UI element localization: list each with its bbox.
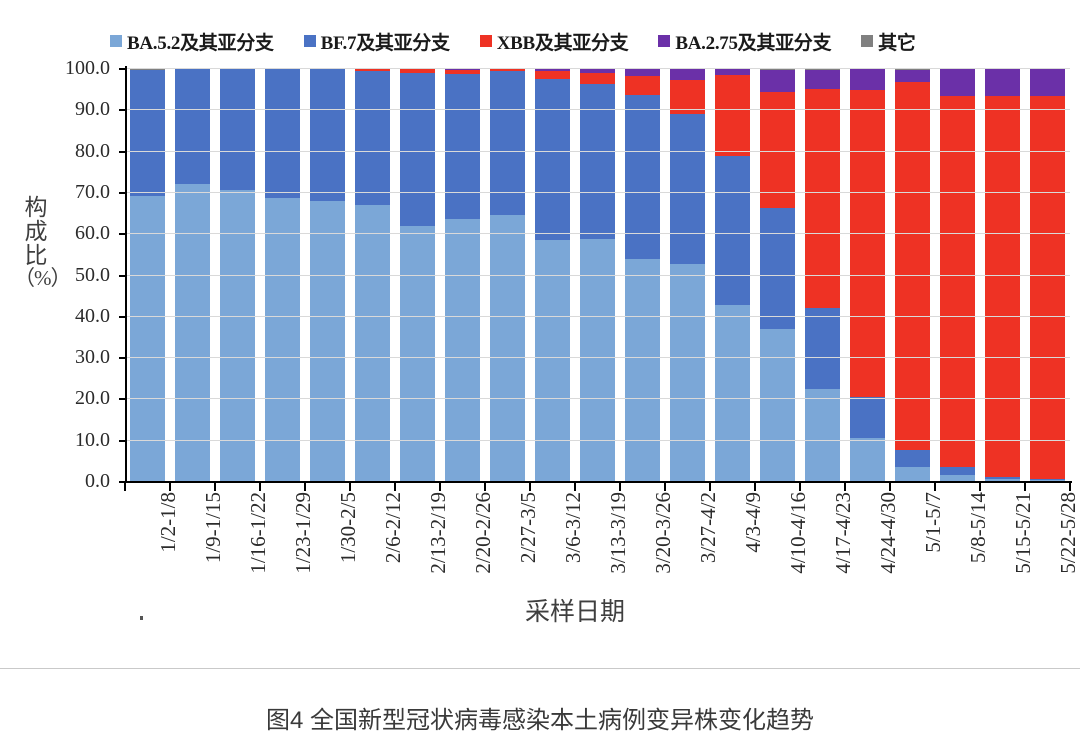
bar-segment[interactable] xyxy=(535,79,570,240)
bar-segment[interactable] xyxy=(535,240,570,481)
x-axis-label-cell: 4/17-4/23 xyxy=(800,492,845,587)
legend-item[interactable]: BA.2.75及其亚分支 xyxy=(658,28,831,55)
legend-swatch-icon xyxy=(304,35,316,47)
x-axis-label-cell: 2/20-2/26 xyxy=(440,492,485,587)
x-axis-tick-mark xyxy=(170,483,215,491)
x-axis-label-cell: 5/15-5/21 xyxy=(980,492,1025,587)
bar-segment[interactable] xyxy=(670,264,705,481)
y-axis-tick-label: 100.0 xyxy=(0,58,110,78)
x-axis-label-cell: 3/20-3/26 xyxy=(620,492,665,587)
x-axis-label-cell: 1/2-1/8 xyxy=(125,492,170,587)
bar-segment[interactable] xyxy=(130,196,165,481)
bar-segment[interactable] xyxy=(1030,69,1065,96)
x-axis-label-cell: 5/8-5/14 xyxy=(935,492,980,587)
bar-segment[interactable] xyxy=(220,68,255,189)
x-axis-title: 采样日期 xyxy=(0,592,1080,628)
bar-segment[interactable] xyxy=(850,438,885,481)
figure-container: BA.5.2及其亚分支BF.7及其亚分支XBB及其亚分支BA.2.75及其亚分支… xyxy=(0,0,1080,739)
x-axis-label-cell: 5/1-5/7 xyxy=(890,492,935,587)
y-axis-tick-label: 90.0 xyxy=(0,99,110,119)
gridline xyxy=(125,275,1070,276)
gridline xyxy=(125,398,1070,399)
bar-segment[interactable] xyxy=(265,198,300,481)
x-axis-label-cell: 1/23-1/29 xyxy=(260,492,305,587)
bar-segment[interactable] xyxy=(895,450,930,467)
figure-caption: 图4 全国新型冠状病毒感染本土病例变异株变化趋势 xyxy=(0,700,1080,735)
x-axis-tick-mark xyxy=(485,483,530,491)
legend-item-label: BA.5.2及其亚分支 xyxy=(127,28,274,55)
y-axis-tick-label: 10.0 xyxy=(0,430,110,450)
y-axis-tick-label: 80.0 xyxy=(0,141,110,161)
bar-segment[interactable] xyxy=(760,329,795,481)
y-axis-tick-label: 60.0 xyxy=(0,223,110,243)
y-axis-tick-label: 70.0 xyxy=(0,182,110,202)
bar-segment[interactable] xyxy=(1030,96,1065,479)
x-axis-tick-labels: 1/2-1/81/9-1/151/16-1/221/23-1/291/30-2/… xyxy=(125,492,1070,587)
legend-swatch-icon xyxy=(658,35,670,47)
x-axis-tick-mark xyxy=(530,483,575,491)
bar-segment[interactable] xyxy=(715,75,750,157)
legend-item[interactable]: BA.5.2及其亚分支 xyxy=(110,28,274,55)
legend-swatch-icon xyxy=(861,35,873,47)
x-axis-tick-mark xyxy=(890,483,935,491)
chart-legend: BA.5.2及其亚分支BF.7及其亚分支XBB及其亚分支BA.2.75及其亚分支… xyxy=(110,28,1070,54)
x-axis-label-cell: 3/13-3/19 xyxy=(575,492,620,587)
gridline xyxy=(125,68,1070,69)
bar-segment[interactable] xyxy=(175,184,210,481)
bar-segment[interactable] xyxy=(985,96,1020,478)
x-axis-tick-mark xyxy=(1025,483,1070,491)
bar-segment[interactable] xyxy=(265,69,300,198)
legend-item-label: BF.7及其亚分支 xyxy=(321,28,450,55)
legend-swatch-icon xyxy=(480,35,492,47)
horizontal-divider xyxy=(0,668,1080,669)
x-axis-label-cell: 1/16-1/22 xyxy=(215,492,260,587)
x-axis-tick-mark xyxy=(125,483,170,491)
bar-segment[interactable] xyxy=(535,71,570,79)
legend-item[interactable]: BF.7及其亚分支 xyxy=(304,28,450,55)
bar-segment[interactable] xyxy=(895,70,930,83)
x-axis-tick-mark xyxy=(845,483,890,491)
bar-segment[interactable] xyxy=(940,467,975,474)
x-axis-tick-mark xyxy=(260,483,305,491)
gridline xyxy=(125,316,1070,317)
bar-segment[interactable] xyxy=(175,68,210,184)
gridline xyxy=(125,357,1070,358)
bar-segment[interactable] xyxy=(895,82,930,449)
bar-segment[interactable] xyxy=(490,71,525,215)
x-axis-tick-mark xyxy=(215,483,260,491)
y-axis-tick-label: 20.0 xyxy=(0,388,110,408)
y-axis-tick-label: 50.0 xyxy=(0,265,110,285)
bar-segment[interactable] xyxy=(445,219,480,481)
stray-mark xyxy=(140,616,143,620)
bar-segment[interactable] xyxy=(850,90,885,397)
bar-segment[interactable] xyxy=(805,308,840,388)
x-axis-label-cell: 4/10-4/16 xyxy=(755,492,800,587)
legend-item[interactable]: 其它 xyxy=(861,28,915,55)
x-axis-ticks xyxy=(125,483,1070,491)
bar-segment[interactable] xyxy=(760,70,795,92)
x-axis-tick-mark xyxy=(710,483,755,491)
bar-segment[interactable] xyxy=(670,69,705,80)
x-axis-label-cell: 5/22-5/28 xyxy=(1025,492,1070,587)
bar-segment[interactable] xyxy=(580,73,615,84)
gridline xyxy=(125,233,1070,234)
bar-segment[interactable] xyxy=(625,76,660,95)
bar-segment[interactable] xyxy=(985,69,1020,96)
bar-segment[interactable] xyxy=(940,96,975,467)
bar-segment[interactable] xyxy=(400,226,435,481)
bar-segment[interactable] xyxy=(355,71,390,205)
bar-segment[interactable] xyxy=(760,208,795,329)
x-axis-tick-mark xyxy=(575,483,620,491)
x-axis-label-cell: 4/3-4/9 xyxy=(710,492,755,587)
x-axis-label-cell: 1/9-1/15 xyxy=(170,492,215,587)
x-axis-label-cell: 2/13-2/19 xyxy=(395,492,440,587)
x-axis-tick-label: 5/22-5/28 xyxy=(1056,492,1080,574)
bar-segment[interactable] xyxy=(625,259,660,481)
gridline xyxy=(125,151,1070,152)
bar-segment[interactable] xyxy=(130,70,165,196)
bar-segment[interactable] xyxy=(400,73,435,226)
x-axis-tick-mark xyxy=(935,483,980,491)
bar-segment[interactable] xyxy=(850,69,885,90)
bar-segment[interactable] xyxy=(310,69,345,200)
x-axis-label-cell: 1/30-2/5 xyxy=(305,492,350,587)
x-axis-tick-mark xyxy=(440,483,485,491)
x-axis-label-cell: 2/6-2/12 xyxy=(350,492,395,587)
bar-segment[interactable] xyxy=(445,74,480,219)
bar-segment[interactable] xyxy=(805,70,840,89)
x-axis-tick-mark xyxy=(350,483,395,491)
x-axis-tick-mark xyxy=(665,483,710,491)
bar-segment[interactable] xyxy=(895,467,930,481)
x-axis-label-cell: 3/27-4/2 xyxy=(665,492,710,587)
plot-area xyxy=(125,68,1070,481)
bar-segment[interactable] xyxy=(805,389,840,482)
x-axis-label-cell: 3/6-3/12 xyxy=(530,492,575,587)
x-axis-tick-mark xyxy=(395,483,440,491)
bar-segment[interactable] xyxy=(670,114,705,264)
legend-item-label: 其它 xyxy=(878,28,915,55)
x-axis-label-cell: 2/27-3/5 xyxy=(485,492,530,587)
bar-segment[interactable] xyxy=(580,84,615,239)
x-axis-tick-mark xyxy=(620,483,665,491)
bar-segment[interactable] xyxy=(715,305,750,481)
y-axis-tick-labels: 0.010.020.030.040.050.060.070.080.090.01… xyxy=(0,68,118,481)
y-axis-tick-label: 0.0 xyxy=(0,471,110,491)
x-axis-tick-mark xyxy=(980,483,1025,491)
bar-segment[interactable] xyxy=(940,69,975,96)
bar-segment[interactable] xyxy=(625,95,660,259)
bar-segment[interactable] xyxy=(625,69,660,76)
legend-item-label: XBB及其亚分支 xyxy=(497,28,629,55)
x-axis-tick-mark xyxy=(755,483,800,491)
bar-segment[interactable] xyxy=(490,215,525,481)
bar-segment[interactable] xyxy=(850,397,885,438)
legend-swatch-icon xyxy=(110,35,122,47)
gridline xyxy=(125,109,1070,110)
legend-item-label: BA.2.75及其亚分支 xyxy=(675,28,831,55)
x-axis-label-cell: 4/24-4/30 xyxy=(845,492,890,587)
x-axis-tick-mark xyxy=(800,483,845,491)
bar-segment[interactable] xyxy=(715,156,750,305)
y-axis-line xyxy=(125,66,127,483)
y-axis-tick-label: 40.0 xyxy=(0,306,110,326)
gridline xyxy=(125,440,1070,441)
gridline xyxy=(125,192,1070,193)
x-axis-tick-mark xyxy=(305,483,350,491)
y-axis-tick-label: 30.0 xyxy=(0,347,110,367)
legend-item[interactable]: XBB及其亚分支 xyxy=(480,28,629,55)
